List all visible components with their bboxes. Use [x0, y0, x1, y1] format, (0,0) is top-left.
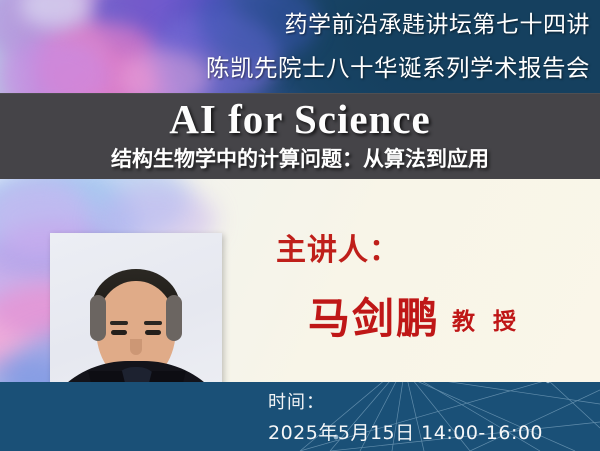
portrait-hair-side-left [90, 295, 106, 341]
speaker-label: 主讲人： [276, 225, 400, 269]
portrait-brow-right [144, 321, 162, 325]
portrait-nose [130, 339, 142, 355]
sub-title: 结构生物学中的计算问题：从算法到应用 [0, 143, 600, 175]
portrait-hair-side-right [166, 295, 182, 341]
main-title: AI for Science [0, 94, 600, 144]
time-label: 时间： [268, 388, 325, 414]
portrait-eye-left [111, 330, 127, 335]
time-value: 2025年5月15日 14:00-16:00 [268, 418, 543, 445]
series-line-2: 陈凯先院士八十华诞系列学术报告会 [160, 46, 590, 90]
title-band: AI for Science 结构生物学中的计算问题：从算法到应用 [0, 93, 600, 179]
speaker-name: 马剑鹏 [308, 285, 440, 346]
poster-header-text: 药学前沿承韪讲坛第七十四讲 陈凯先院士八十华诞系列学术报告会 [160, 2, 590, 90]
portrait-brow-left [110, 321, 128, 325]
lecture-poster: 药学前沿承韪讲坛第七十四讲 陈凯先院士八十华诞系列学术报告会 AI for Sc… [0, 0, 600, 451]
footer-left-solid-block [0, 382, 146, 451]
series-line-1: 药学前沿承韪讲坛第七十四讲 [160, 2, 590, 46]
speaker-academic-title: 教 授 [452, 302, 521, 336]
portrait-eye-right [145, 330, 161, 335]
